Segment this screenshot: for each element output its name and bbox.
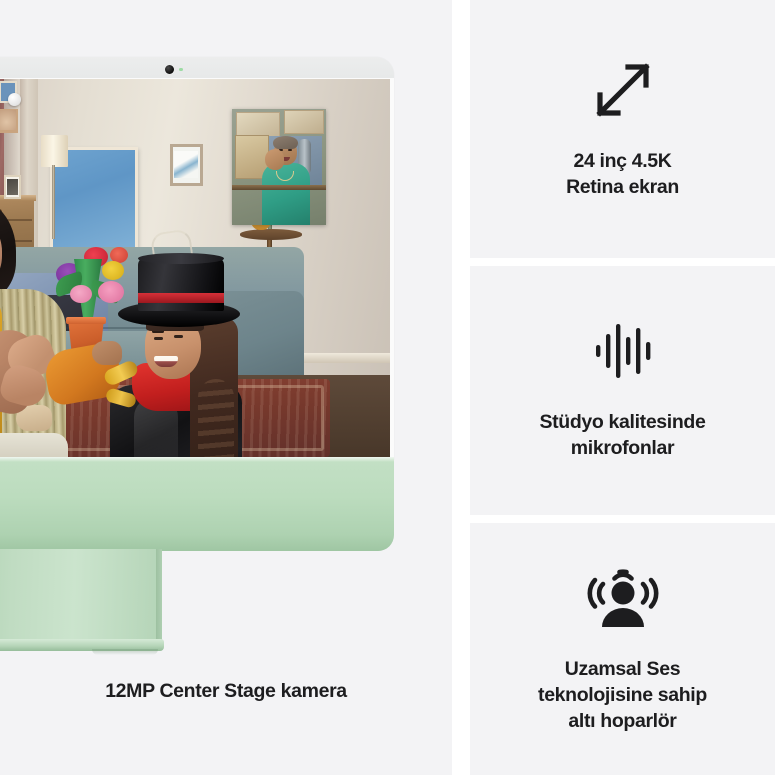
imac-stand-neck bbox=[0, 549, 162, 643]
framed-print-artwork bbox=[174, 151, 198, 178]
pip-person-eye-right bbox=[288, 149, 292, 151]
woman-legs bbox=[0, 433, 68, 457]
close-tile-icon[interactable] bbox=[8, 93, 21, 106]
pip-person-hair bbox=[273, 136, 298, 149]
girl-eye-left bbox=[154, 337, 163, 340]
paper-flower-pink-small bbox=[70, 285, 92, 303]
imac-stand-neck-edge bbox=[156, 549, 162, 643]
camera-feature-caption: 12MP Center Stage kamera bbox=[0, 680, 452, 703]
girl-hand bbox=[92, 341, 122, 365]
paper-flower-yellow bbox=[102, 261, 124, 280]
video-call-pip-tile[interactable] bbox=[232, 109, 326, 225]
floor-lamp-pole bbox=[52, 165, 55, 239]
floor-lamp-shade bbox=[41, 135, 68, 167]
photo-frame-image bbox=[7, 179, 18, 195]
side-table-shelf-top bbox=[240, 229, 302, 240]
feature-label-microphones: Stüdyo kalitesinde mikrofonlar bbox=[540, 410, 706, 461]
girl-eye-right bbox=[174, 335, 183, 338]
pip-person-hand bbox=[265, 149, 284, 170]
flower-pot-rim bbox=[66, 317, 106, 324]
girl-top-hat-top bbox=[138, 253, 224, 264]
imac-stand-shadow bbox=[92, 649, 158, 655]
paper-flower-pink bbox=[98, 281, 124, 303]
audio-waveform-icon bbox=[592, 320, 654, 382]
pip-wall-map-top-right bbox=[284, 110, 324, 134]
camera-dot-icon bbox=[165, 65, 174, 74]
pip-shelf bbox=[232, 185, 326, 190]
feature-panel-display: 24 inç 4.5K Retina ekran bbox=[470, 0, 775, 258]
imac-product-panel: 12MP Center Stage kamera bbox=[0, 0, 452, 775]
camera-indicator-led-icon bbox=[179, 68, 183, 72]
girl-hair-waves bbox=[198, 379, 234, 457]
imac-green-chin bbox=[0, 457, 394, 551]
spatial-audio-person-icon bbox=[586, 563, 660, 633]
feature-panel-speakers: Uzamsal Ses teknolojisine sahip altı hop… bbox=[470, 523, 775, 775]
feature-panel-microphones: Stüdyo kalitesinde mikrofonlar bbox=[470, 266, 775, 515]
girl-top-hat-red-band bbox=[138, 293, 224, 303]
imac-screen-video-call bbox=[0, 79, 390, 457]
imac-chin-highlight bbox=[0, 457, 394, 462]
framed-picture-portrait bbox=[0, 110, 16, 130]
expand-arrows-icon bbox=[590, 57, 656, 123]
imac-device bbox=[0, 57, 394, 637]
screenshot-root: 12MP Center Stage kamera 24 inç 4.5K Ret… bbox=[0, 0, 775, 775]
feature-label-display: 24 inç 4.5K Retina ekran bbox=[566, 149, 679, 200]
feature-label-speakers: Uzamsal Ses teknolojisine sahip altı hop… bbox=[538, 657, 707, 734]
feature-panel-column: 24 inç 4.5K Retina ekran Stüdyo kalitesi… bbox=[470, 0, 775, 775]
